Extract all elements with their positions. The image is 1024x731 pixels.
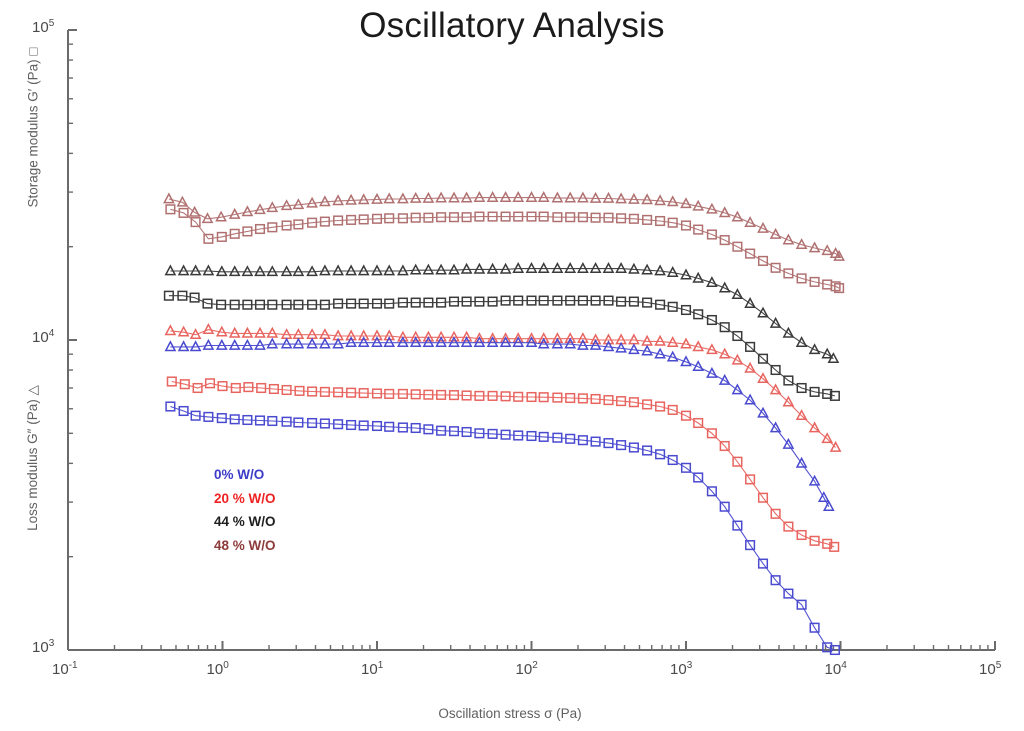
legend: 0% W/O20 % W/O44 % W/O48 % W/O	[214, 468, 276, 552]
y-tick-label: 105	[32, 18, 54, 36]
legend-item-2: 44 % W/O	[214, 515, 276, 529]
slide-canvas: Oscillatory Analysis Storage modulus G′ …	[0, 0, 1024, 731]
series-2	[166, 264, 838, 363]
x-tick-label: 104	[825, 660, 847, 678]
y-axis-label-loss-modulus: Loss modulus G″ (Pa) △	[25, 363, 41, 553]
y-tick-label: 104	[32, 328, 54, 346]
data-series-layer	[164, 193, 843, 655]
x-tick-label: 101	[361, 660, 383, 678]
series-1	[166, 205, 843, 292]
x-tick-label: 105	[979, 660, 1001, 678]
x-tick-label: 100	[207, 660, 229, 678]
axis-lines	[68, 30, 995, 650]
x-axis-label: Oscillation stress σ (Pa)	[350, 706, 670, 721]
x-tick-label: 102	[516, 660, 538, 678]
y-axis-label-storage-modulus: Storage modulus G′ (Pa) □	[26, 33, 41, 223]
legend-item-0: 0% W/O	[214, 468, 276, 482]
x-tick-label: 10-1	[52, 660, 78, 678]
oscillatory-analysis-chart	[0, 0, 1024, 731]
legend-item-1: 20 % W/O	[214, 492, 276, 506]
legend-item-3: 48 % W/O	[214, 539, 276, 553]
y-tick-label: 103	[32, 638, 54, 656]
x-tick-label: 103	[670, 660, 692, 678]
